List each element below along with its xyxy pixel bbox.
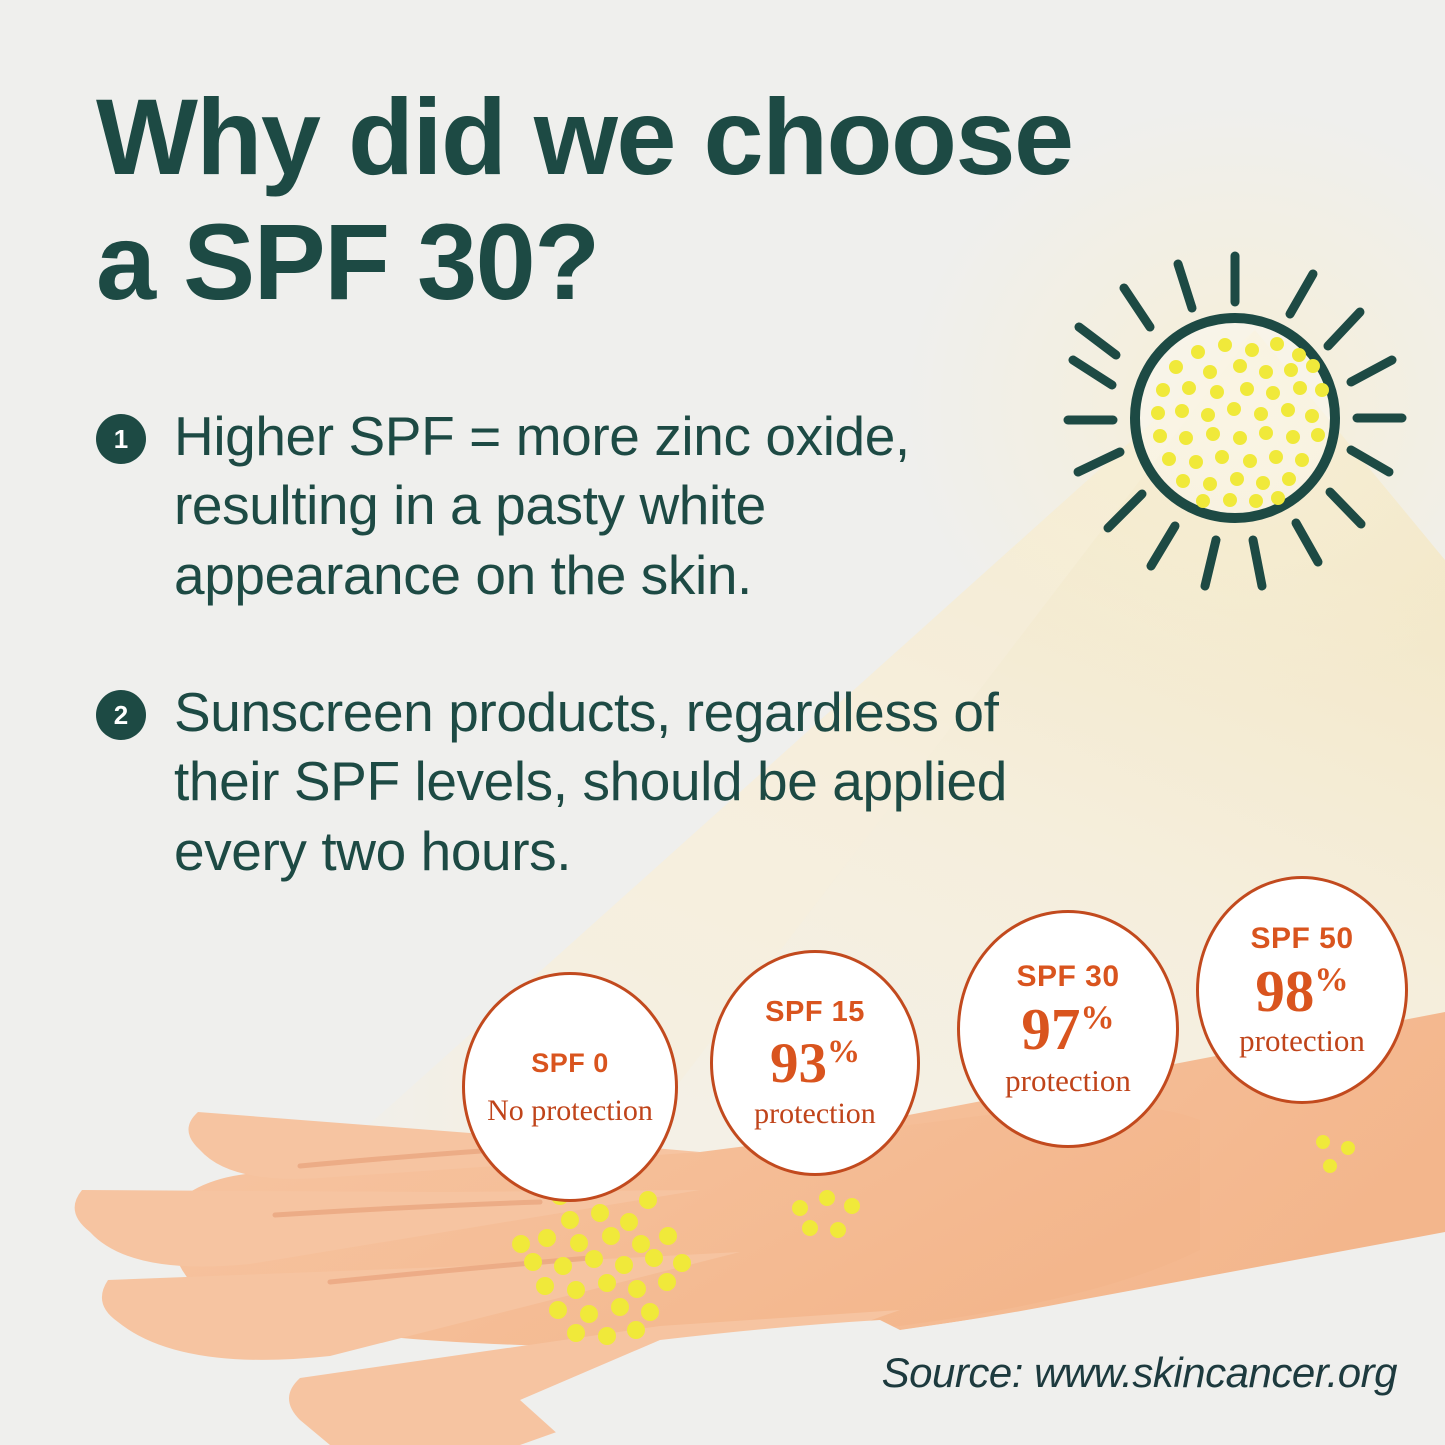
source-attribution: Source: www.skincancer.org	[882, 1349, 1397, 1397]
spf-protection-text: protection	[1005, 1065, 1131, 1098]
percent-sign: %	[827, 1034, 860, 1070]
list-item: 2 Sunscreen products, regardless of thei…	[96, 678, 1116, 886]
spf-protection-text: protection	[754, 1098, 876, 1130]
spf-bubble-30: SPF 30 97% protection	[957, 910, 1179, 1148]
spf-bubble-50: SPF 50 98% protection	[1196, 876, 1408, 1104]
sun-dots	[1151, 337, 1329, 508]
bullet-number-badge: 1	[96, 414, 146, 464]
percent-sign: %	[1314, 962, 1348, 999]
sun-disc	[1135, 318, 1335, 518]
list-item: 1 Higher SPF = more zinc oxide, resultin…	[96, 402, 1056, 610]
spf-percent: 97%	[1021, 1000, 1114, 1059]
spf-label: SPF 30	[1016, 960, 1119, 994]
spf-label: SPF 0	[531, 1048, 609, 1079]
infographic-canvas: Why did we choose a SPF 30? 1 Higher SPF…	[0, 0, 1445, 1445]
bullet-text: Sunscreen products, regardless of their …	[174, 678, 1116, 886]
percent-sign: %	[1080, 1000, 1114, 1037]
headline-line-2: a SPF 30?	[96, 199, 1216, 324]
spf-label: SPF 50	[1250, 922, 1353, 956]
headline-line-1: Why did we choose	[96, 76, 1073, 197]
spf-protection-text: protection	[1239, 1025, 1365, 1058]
spf-percent: 98%	[1255, 962, 1348, 1021]
spf-label: SPF 15	[765, 996, 865, 1029]
spf-bubble-15: SPF 15 93% protection	[710, 950, 920, 1176]
spf-bubble-0: SPF 0 No protection	[462, 972, 678, 1202]
bullet-text: Higher SPF = more zinc oxide, resulting …	[174, 402, 1056, 610]
spf-protection-text: No protection	[487, 1095, 653, 1127]
spf-percent: 93%	[770, 1035, 860, 1092]
page-title: Why did we choose a SPF 30?	[96, 74, 1216, 325]
bullet-number-badge: 2	[96, 690, 146, 740]
